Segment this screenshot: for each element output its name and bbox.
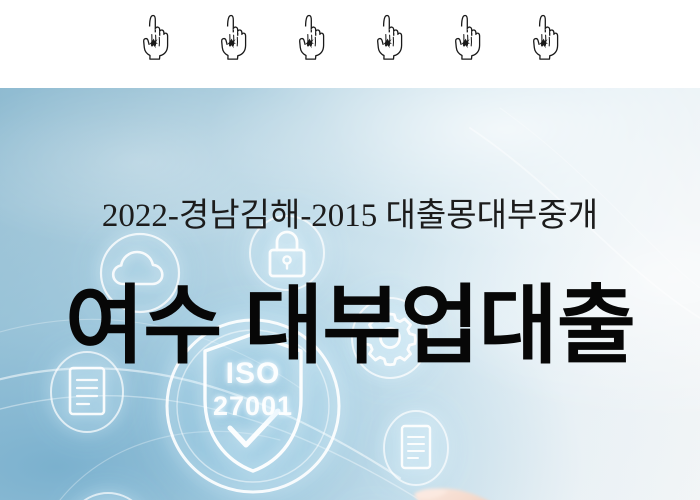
hero-subtitle: 2022-경남김해-2015 대출몽대부중개 (0, 188, 700, 236)
pointing-hand-icon-band (0, 0, 700, 88)
pointing-up-hand-icon (138, 14, 172, 60)
pointing-up-hand-icon (450, 14, 484, 60)
document-icon (378, 406, 454, 490)
pointing-up-hand-icon (528, 14, 562, 60)
pointing-up-hand-icon (216, 14, 250, 60)
shield-lock-icon (60, 486, 156, 500)
page-root: ISO 27001 (0, 0, 700, 500)
pointing-up-hand-icon (372, 14, 406, 60)
hero-title: 여수 대부업대출 (0, 283, 700, 369)
hero-banner: ISO 27001 (0, 88, 700, 500)
pointing-up-hand-icon (294, 14, 328, 60)
